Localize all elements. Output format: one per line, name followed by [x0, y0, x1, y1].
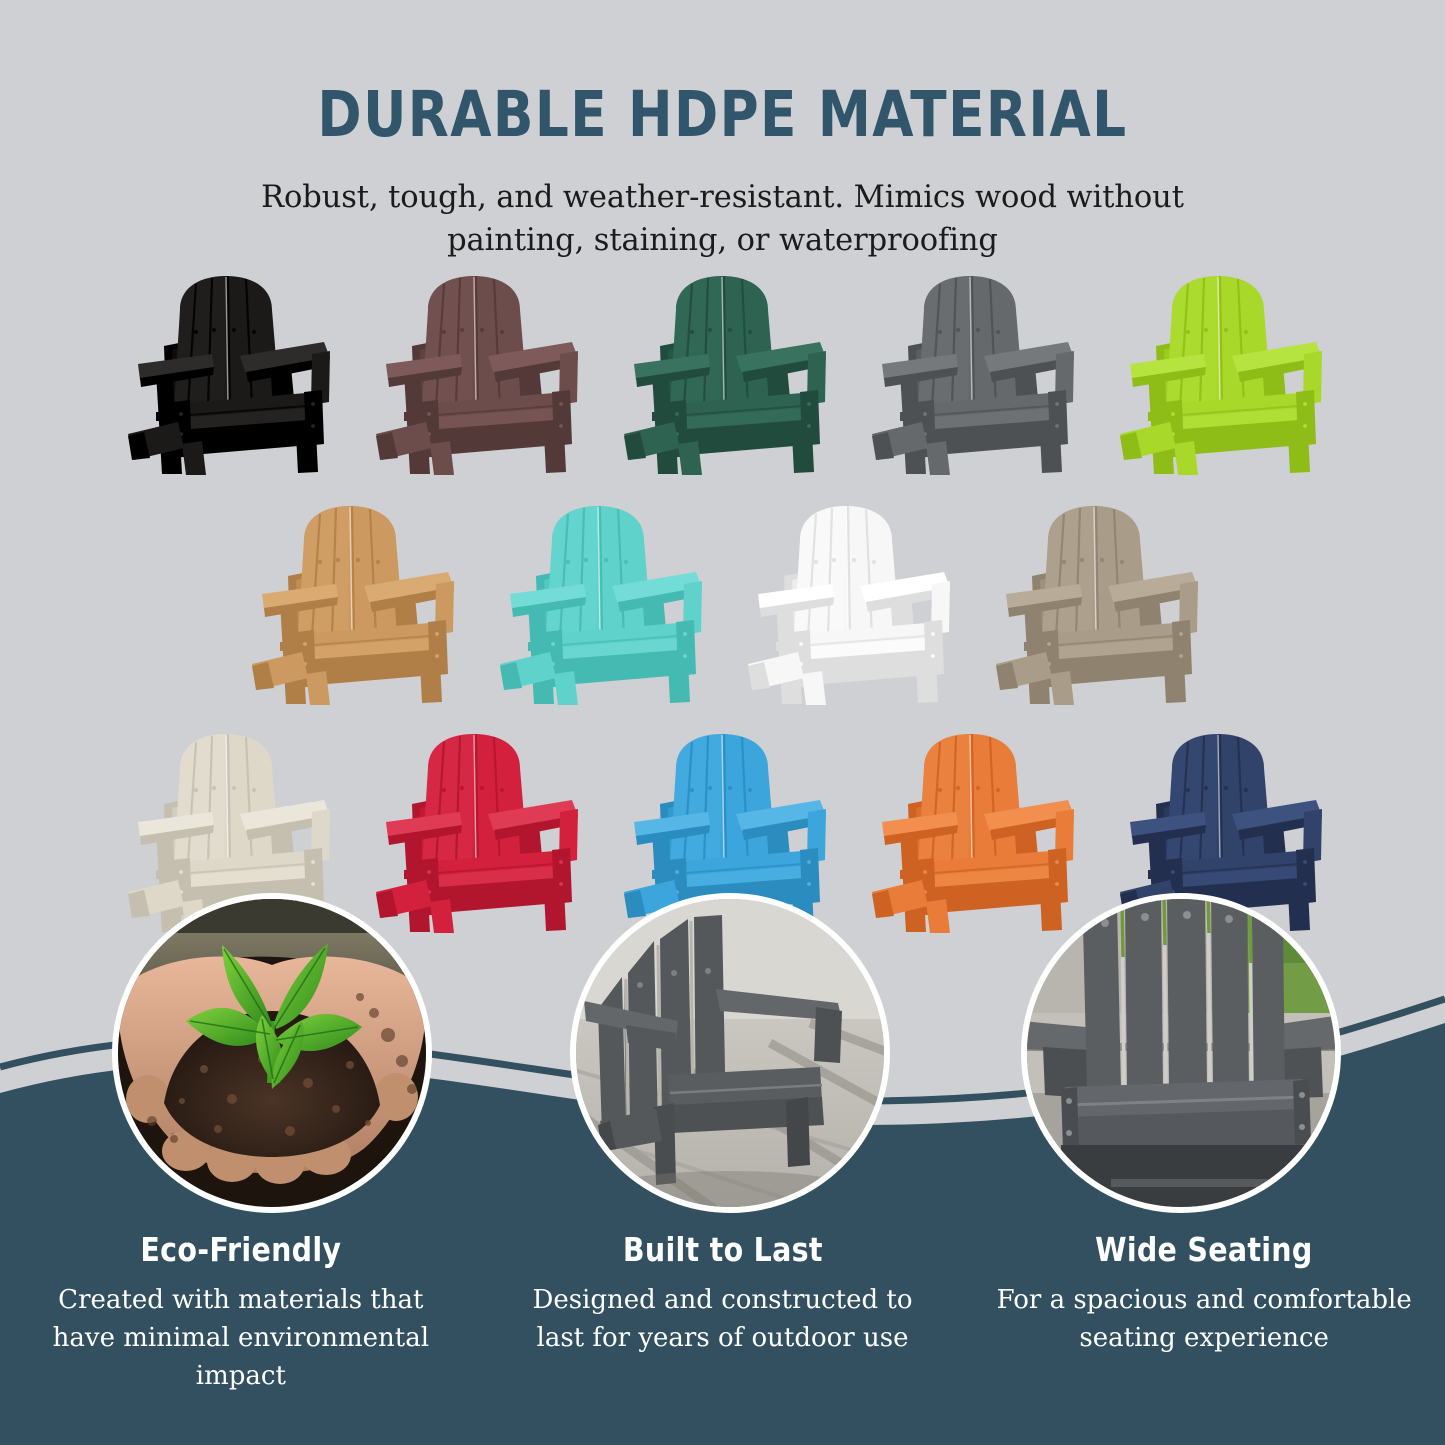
feature-title: Built to Last: [491, 1232, 953, 1268]
brown-chair[interactable]: [368, 268, 583, 480]
chair-color-grid: [0, 268, 1445, 938]
infographic-stage: DURABLE HDPE MATERIAL Robust, tough, and…: [0, 0, 1445, 1445]
chair-row-2: [0, 498, 1445, 710]
feature-captions: Eco-Friendly Created with materials that…: [0, 1232, 1445, 1395]
black-chair[interactable]: [120, 268, 335, 480]
chair-cell[interactable]: [864, 268, 1079, 480]
chair-cell[interactable]: [1112, 268, 1327, 480]
hands-holding-seedling-photo: [112, 893, 432, 1213]
built-to-last-photo: [570, 893, 890, 1213]
feature-built-to-last: Built to Last Designed and constructed t…: [482, 1232, 964, 1395]
chair-cell[interactable]: [368, 268, 583, 480]
white-chair[interactable]: [740, 498, 955, 710]
dark-green-chair[interactable]: [616, 268, 831, 480]
gray-chair[interactable]: [864, 268, 1079, 480]
feature-wide-seating: Wide Seating For a spacious and comforta…: [963, 1232, 1445, 1395]
feature-body: For a spacious and comfortable seating e…: [994, 1282, 1414, 1357]
page-subtitle: Robust, tough, and weather-resistant. Mi…: [228, 176, 1218, 263]
feature-title: Wide Seating: [973, 1232, 1435, 1268]
feature-body: Designed and constructed to last for yea…: [513, 1282, 933, 1357]
chair-row-1: [0, 268, 1445, 480]
chair-cell[interactable]: [244, 498, 459, 710]
chair-cell[interactable]: [120, 268, 335, 480]
feature-eco-friendly: Eco-Friendly Created with materials that…: [0, 1232, 482, 1395]
header: DURABLE HDPE MATERIAL Robust, tough, and…: [0, 0, 1445, 263]
page-title: DURABLE HDPE MATERIAL: [43, 0, 1401, 146]
wide-seating-photo: [1021, 893, 1341, 1213]
chair-cell[interactable]: [492, 498, 707, 710]
feature-title: Eco-Friendly: [10, 1232, 472, 1268]
chair-cell[interactable]: [616, 268, 831, 480]
chair-cell[interactable]: [988, 498, 1203, 710]
turquoise-chair[interactable]: [492, 498, 707, 710]
chair-cell[interactable]: [740, 498, 955, 710]
feature-body: Created with materials that have minimal…: [26, 1282, 456, 1395]
gray-chair-wide-seat-closeup-photo: [1021, 893, 1341, 1213]
teak-chair[interactable]: [244, 498, 459, 710]
eco-friendly-photo: [112, 893, 432, 1213]
lime-green-chair[interactable]: [1112, 268, 1327, 480]
gray-chair-on-patio-photo: [570, 893, 890, 1213]
weathered-wood-chair[interactable]: [988, 498, 1203, 710]
feature-photos: [0, 893, 1445, 1233]
